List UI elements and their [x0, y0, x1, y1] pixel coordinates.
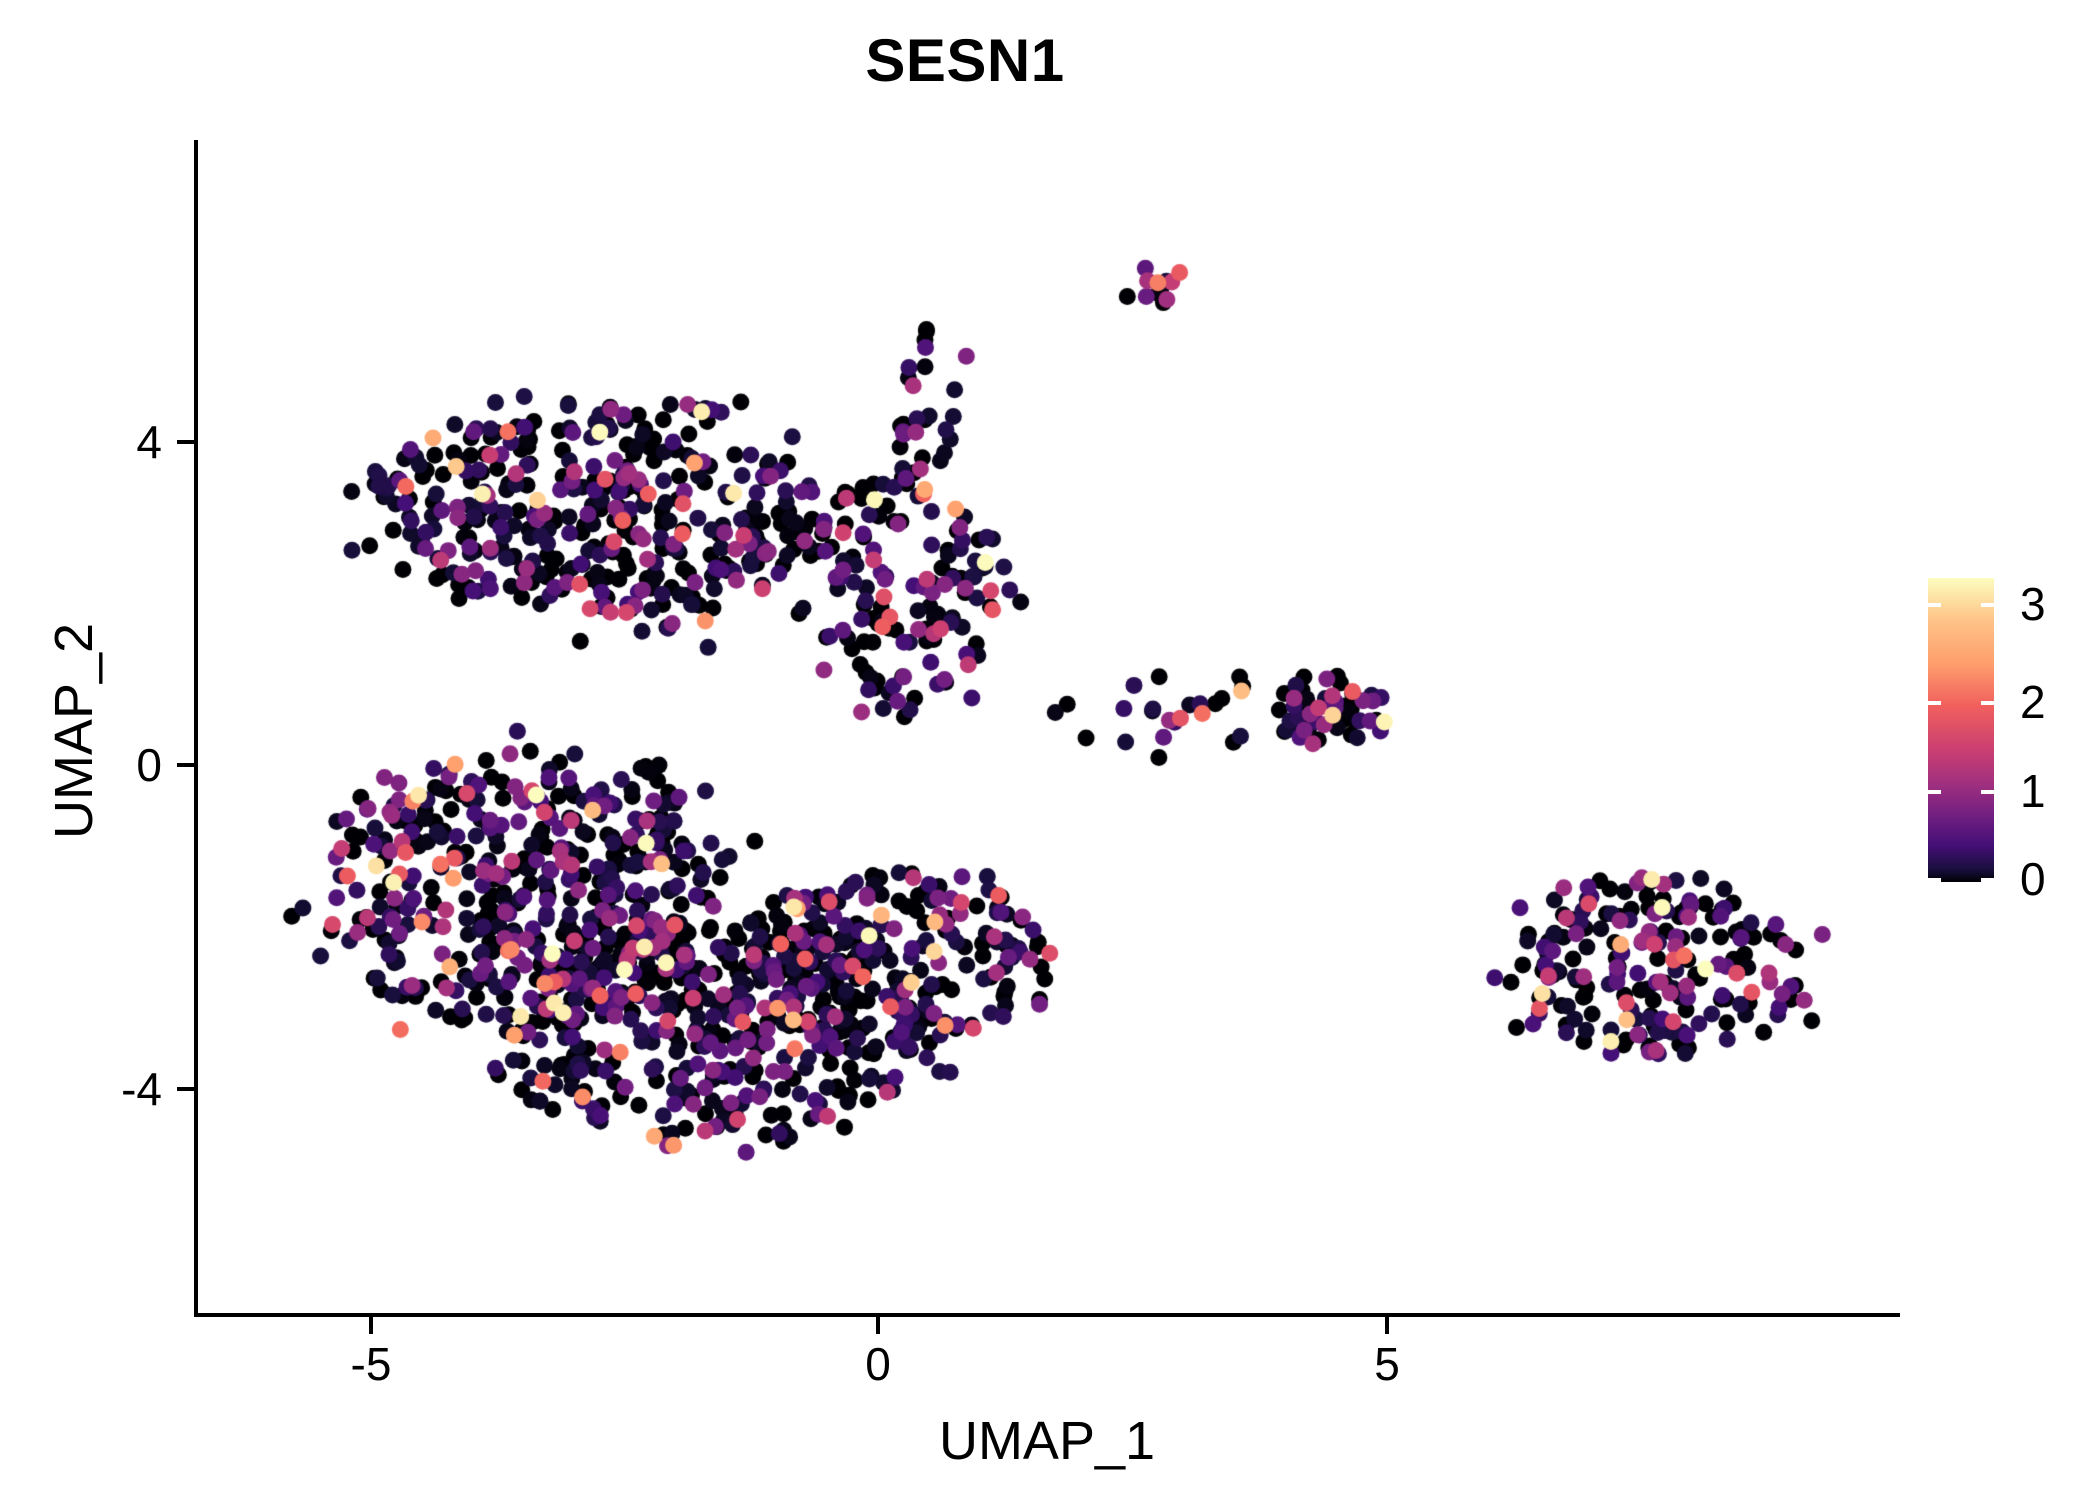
colorbar-tick-1-right — [1981, 790, 1994, 794]
colorbar-gradient — [1928, 578, 1994, 882]
colorbar-tick-3-left — [1928, 603, 1941, 607]
colorbar-label-2: 2 — [2020, 679, 2046, 725]
umap-feature-plot: SESN1 4 0 -4 -5 0 5 UMAP_1 UMAP_2 3 2 1 … — [0, 0, 2100, 1500]
y-axis-title: UMAP_2 — [43, 431, 105, 1031]
x-tick-label-minus5: -5 — [271, 1341, 471, 1387]
x-tick-mark-minus5 — [369, 1317, 373, 1334]
x-tick-label-0: 0 — [778, 1341, 978, 1387]
colorbar-tick-2-left — [1928, 701, 1941, 705]
y-tick-label-0: 0 — [136, 742, 162, 788]
y-tick-mark-0 — [177, 763, 194, 767]
x-axis-line — [194, 1313, 1900, 1317]
colorbar-tick-0-right — [1981, 878, 1994, 882]
colorbar-tick-0-left — [1928, 878, 1941, 882]
y-tick-label-minus4: -4 — [121, 1066, 162, 1112]
x-tick-label-5: 5 — [1287, 1341, 1487, 1387]
x-tick-mark-0 — [876, 1317, 880, 1334]
colorbar-label-0: 0 — [2020, 856, 2046, 902]
y-axis-line — [194, 140, 198, 1317]
colorbar-tick-2-right — [1981, 701, 1994, 705]
y-tick-mark-minus4 — [177, 1087, 194, 1091]
page-title: SESN1 — [0, 26, 1930, 95]
color-legend: 3 2 1 0 — [1928, 578, 2088, 888]
x-tick-mark-5 — [1385, 1317, 1389, 1334]
scatter-points-canvas — [197, 140, 1900, 1315]
colorbar-label-1: 1 — [2020, 768, 2046, 814]
y-tick-mark-4 — [177, 440, 194, 444]
colorbar-tick-1-left — [1928, 790, 1941, 794]
x-axis-title: UMAP_1 — [194, 1410, 1900, 1472]
scatter-plot-panel — [197, 140, 1900, 1315]
colorbar-tick-3-right — [1981, 603, 1994, 607]
colorbar-label-3: 3 — [2020, 581, 2046, 627]
y-tick-label-4: 4 — [136, 419, 162, 465]
